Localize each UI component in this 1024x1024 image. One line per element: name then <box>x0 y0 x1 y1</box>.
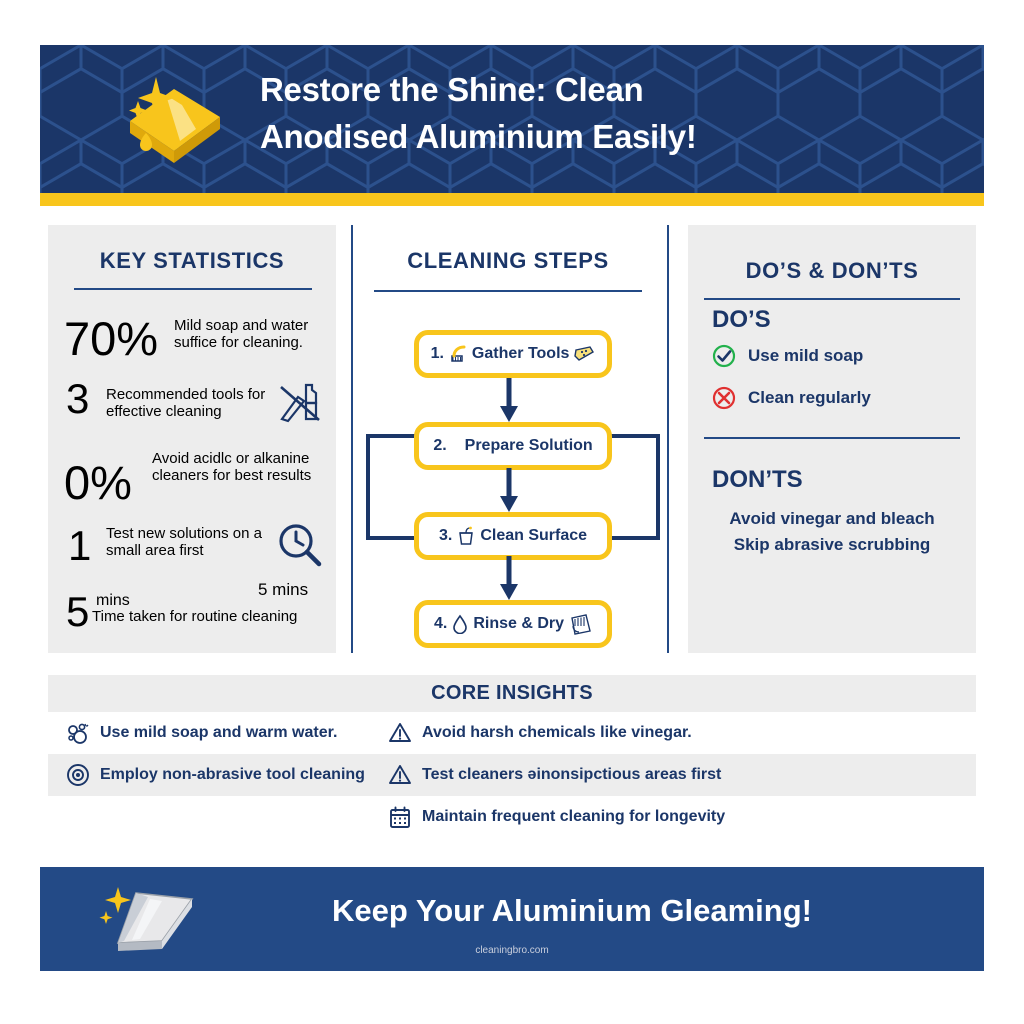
core-insights-row-2: Employ non-abrasive tool cleaning Test c… <box>48 754 976 796</box>
cleaning-cloth-icon <box>568 613 592 635</box>
bucket-icon <box>456 526 476 546</box>
dos-item-2: Clean regularly <box>712 386 871 410</box>
core-insight-item-4-label: Test cleaners əinonsipctious areas first <box>422 766 721 784</box>
step-box-4[interactable]: 4. Rinse & Dry <box>414 600 612 648</box>
step-box-3[interactable]: 3. Clean Surface <box>414 512 612 560</box>
donts-item-1: Avoid vinegar and bleach <box>688 509 976 529</box>
core-insights-row-1: Use mild soap and warm water. Avoid hars… <box>48 712 976 754</box>
core-insights-heading: CORE INSIGHTS <box>48 675 976 712</box>
cleaning-steps-heading: CLEANING STEPS <box>352 248 664 274</box>
core-insight-item-2: Avoid harsh chemicals like vinegar. <box>388 712 692 754</box>
dos-donts-rule-2 <box>704 437 960 439</box>
flow-arrow-2 <box>497 468 521 514</box>
core-insight-item-5-label: Maintain frequent cleaning for longevity <box>422 808 725 826</box>
water-drop-icon <box>451 614 469 634</box>
core-insight-item-3-label: Employ non-abrasive tool cleaning <box>100 766 365 784</box>
header-banner: Restore the Shine: Clean Anodised Alumin… <box>40 45 984 193</box>
dos-donts-heading: DO’S & DON’TS <box>688 258 976 284</box>
panel-divider-right <box>667 225 669 653</box>
header-title-line2: Anodised Aluminium Easily! <box>260 114 960 161</box>
step-4-number: 4. <box>434 615 447 633</box>
cleaning-steps-rule <box>374 290 642 292</box>
step-3-label: Clean Surface <box>480 527 587 545</box>
header-accent-bar <box>40 193 984 206</box>
stat-2-text: Recommended tools for effective cleaning <box>106 386 266 420</box>
dos-donts-panel <box>688 225 976 653</box>
stat-3-text: Avoid acidlc or alkanine cleaners for be… <box>152 450 324 484</box>
core-insight-item-1-label: Use mild soap and warm water. <box>100 724 337 742</box>
core-insights-row-3: Maintain frequent cleaning for longevity <box>48 796 976 838</box>
flow-arrow-3 <box>497 556 521 602</box>
stat-1-text: Mild soap and water suffice for cleaning… <box>174 317 326 351</box>
footer-banner: Keep Your Aluminium Gleaming! cleaningbr… <box>40 867 984 971</box>
broom-icon <box>448 344 468 364</box>
step-2-number: 2. <box>433 437 446 455</box>
warning-triangle-icon <box>388 763 412 787</box>
core-insights-section: CORE INSIGHTS Use mild soap and warm wat… <box>48 675 976 843</box>
calendar-icon <box>388 805 412 829</box>
dos-subheading: DO’S <box>712 306 771 334</box>
header-title-line1: Restore the Shine: Clean <box>260 71 643 108</box>
donts-subheading: DON’TS <box>712 466 803 494</box>
check-circle-icon <box>712 344 736 368</box>
core-insight-item-4: Test cleaners əinonsipctious areas first <box>388 754 721 796</box>
cleaning-steps-flowchart: 1. Gather Tools 2. Pr <box>352 300 664 650</box>
core-insight-item-3: Employ non-abrasive tool cleaning <box>66 754 365 796</box>
donts-item-2: Skip abrasive scrubbing <box>688 535 976 555</box>
step-4-label: Rinse & Dry <box>473 615 564 633</box>
core-insight-item-5: Maintain frequent cleaning for longevity <box>388 796 725 838</box>
step-3-number: 3. <box>439 527 452 545</box>
stat-5-text: Time taken for routine cleaning <box>92 608 332 625</box>
dos-item-1-label: Use mild soap <box>748 346 863 366</box>
soap-bubbles-icon <box>66 721 90 745</box>
header-title: Restore the Shine: Clean Anodised Alumin… <box>260 67 960 161</box>
x-circle-icon <box>712 386 736 410</box>
stat-4-text: Test new solutions on a small area first <box>106 525 274 559</box>
footer-title: Keep Your Aluminium Gleaming! <box>40 893 984 929</box>
footer-credit: cleaningbro.com <box>40 945 984 956</box>
no-abrasive-tools-icon <box>278 381 322 423</box>
dos-item-2-label: Clean regularly <box>748 388 871 408</box>
target-circle-icon <box>66 763 90 787</box>
dos-item-1: Use mild soap <box>712 344 863 368</box>
step-box-1[interactable]: 1. Gather Tools <box>414 330 612 378</box>
warning-triangle-icon <box>388 721 412 745</box>
key-statistics-heading: KEY STATISTICS <box>48 248 336 274</box>
flow-arrow-1 <box>497 378 521 424</box>
core-insight-item-1: Use mild soap and warm water. <box>66 712 337 754</box>
clock-magnifier-icon <box>276 522 324 568</box>
gold-plate-sparkle-icon <box>112 63 232 175</box>
infographic-page: Restore the Shine: Clean Anodised Alumin… <box>0 0 1024 1024</box>
step-2-label: Prepare Solution <box>465 437 593 455</box>
dos-donts-rule <box>704 298 960 300</box>
step-1-number: 1. <box>431 345 444 363</box>
core-insight-item-2-label: Avoid harsh chemicals like vinegar. <box>422 724 692 742</box>
step-1-label: Gather Tools <box>472 345 570 363</box>
sponge-icon <box>573 344 595 364</box>
key-statistics-rule <box>74 288 312 290</box>
step-box-2[interactable]: 2. Prepare Solution <box>414 422 612 470</box>
